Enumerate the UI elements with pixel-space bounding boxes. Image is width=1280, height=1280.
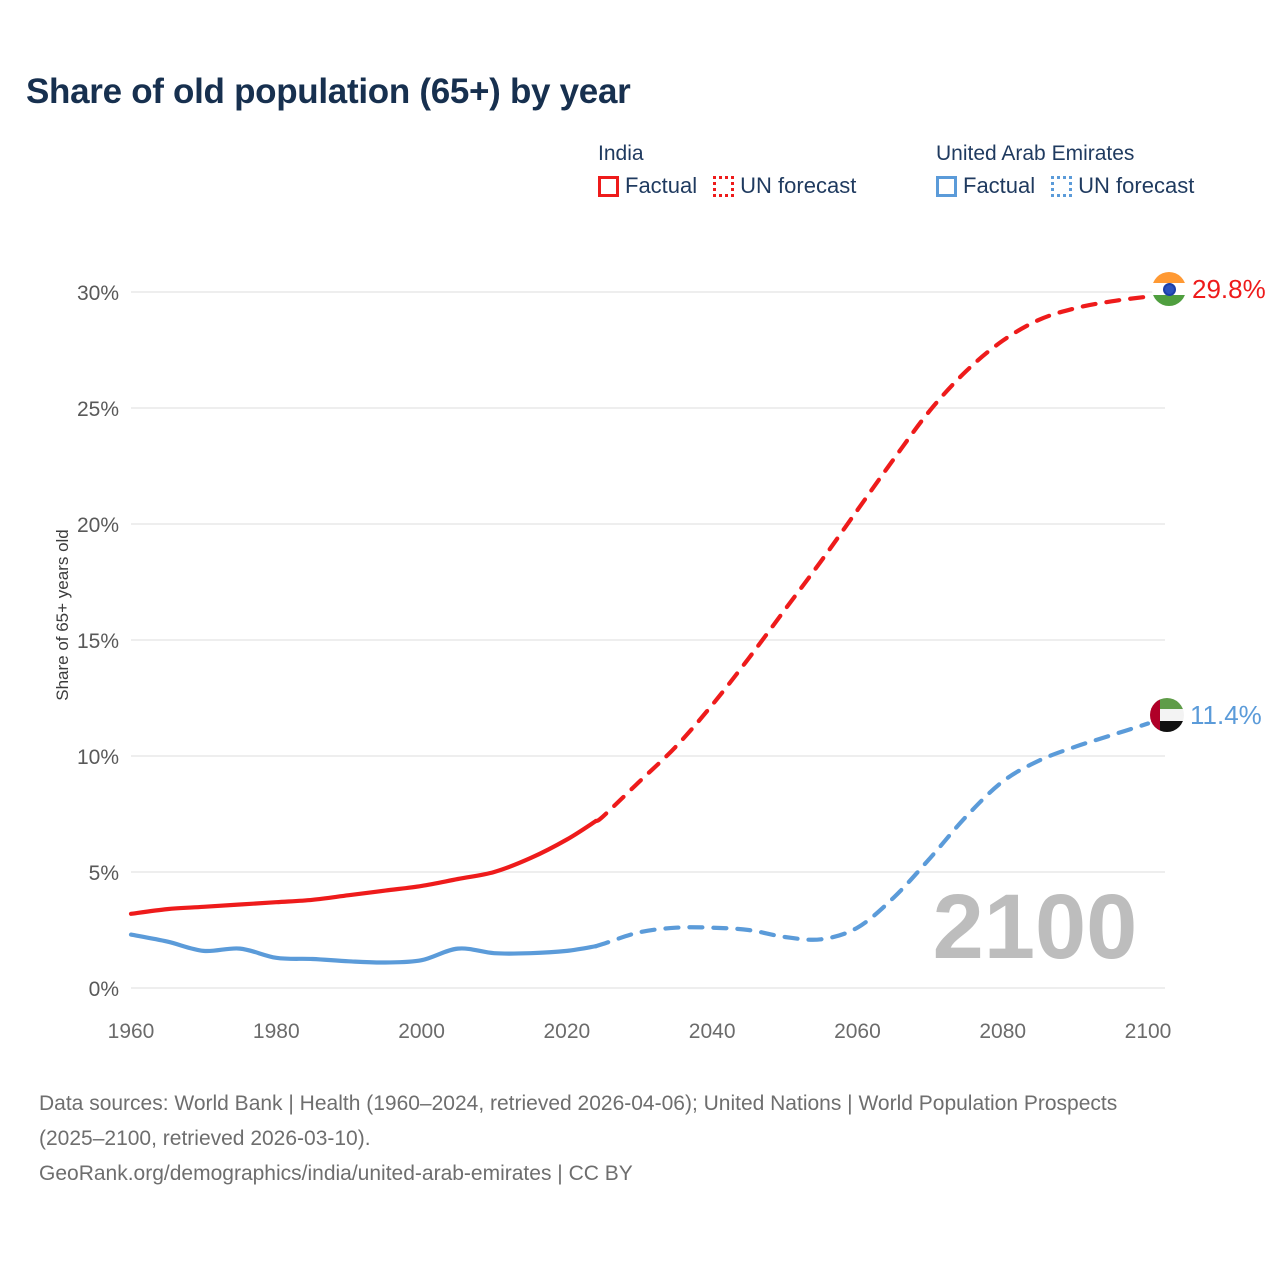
y-tick-label: 0%: [89, 978, 119, 1001]
footer: Data sources: World Bank | Health (1960–…: [39, 1086, 1189, 1191]
y-tick-label: 25%: [77, 398, 119, 421]
x-tick-label: 1960: [108, 1020, 155, 1043]
series-line-india-forecast: [596, 297, 1148, 821]
x-tick-label: 1980: [253, 1020, 300, 1043]
x-tick-label: 2100: [1125, 1020, 1172, 1043]
india-flag-icon: [1152, 272, 1186, 306]
y-tick-label: 20%: [77, 514, 119, 537]
endpoint-value-india: 29.8%: [1192, 274, 1266, 304]
footer-data-sources: Data sources: World Bank | Health (1960–…: [39, 1086, 1129, 1156]
chart-page: Share of old population (65+) by year In…: [0, 0, 1280, 1280]
endpoint-india[interactable]: 29.8%: [1152, 272, 1266, 306]
x-tick-labels: 19601980200020202040206020802100: [108, 1020, 1172, 1043]
plot-area: Share of 65+ years old 0%5%10%15%20%25%3…: [0, 0, 1280, 1060]
x-tick-label: 2040: [689, 1020, 736, 1043]
x-tick-label: 2060: [834, 1020, 881, 1043]
y-axis-title: Share of 65+ years old: [53, 505, 73, 725]
y-tick-label: 30%: [77, 282, 119, 305]
uae-flag-icon: [1150, 698, 1184, 732]
x-tick-label: 2080: [979, 1020, 1026, 1043]
y-tick-label: 15%: [77, 630, 119, 653]
endpoint-uae[interactable]: 11.4%: [1150, 698, 1262, 732]
endpoint-value-uae: 11.4%: [1190, 700, 1262, 730]
y-tick-label: 10%: [77, 746, 119, 769]
y-tick-labels: 0%5%10%15%20%25%30%: [77, 282, 119, 1001]
x-tick-label: 2000: [398, 1020, 445, 1043]
series-line-uae-factual: [131, 935, 596, 963]
chart-svg: 0%5%10%15%20%25%30% 19601980200020202040…: [0, 0, 1280, 1060]
series-line-india-factual: [131, 821, 596, 914]
x-tick-label: 2020: [543, 1020, 590, 1043]
watermark-year: 2100: [933, 876, 1138, 978]
footer-attribution: GeoRank.org/demographics/india/united-ar…: [39, 1156, 1189, 1191]
y-tick-label: 5%: [89, 862, 119, 885]
